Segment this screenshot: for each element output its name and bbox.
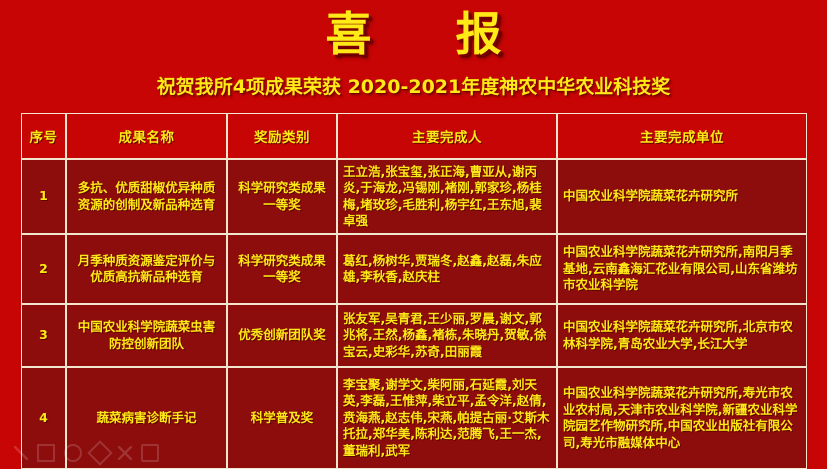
table-row: 1 多抗、优质甜椒优异种质资源的创制及新品种选育 科学研究类成果一等奖 王立浩,… xyxy=(21,159,807,234)
cell-index: 2 xyxy=(21,234,66,304)
table-header-row: 序号 成果名称 奖励类别 主要完成人 主要完成单位 xyxy=(21,113,807,159)
award-table-container: 序号 成果名称 奖励类别 主要完成人 主要完成单位 1 多抗、优质甜椒优异种质资… xyxy=(21,113,807,452)
cell-achievement: 月季种质资源鉴定评价与优质高抗新品种选育 xyxy=(66,234,227,304)
cell-contributors: 李宝聚,谢学文,柴阿丽,石延霞,刘天英,李磊,王惟萍,柴立平,孟令洋,赵倩,贲海… xyxy=(337,367,557,469)
page-subtitle: 祝贺我所4项成果荣获 2020-2021年度神农中华农业科技奖 xyxy=(0,74,827,100)
column-header-award-type: 奖励类别 xyxy=(227,113,337,159)
cell-units: 中国农业科学院蔬菜花卉研究所 xyxy=(557,159,807,234)
cell-achievement: 多抗、优质甜椒优异种质资源的创制及新品种选育 xyxy=(66,159,227,234)
column-header-units: 主要完成单位 xyxy=(557,113,807,159)
cell-index: 1 xyxy=(21,159,66,234)
column-header-index: 序号 xyxy=(21,113,66,159)
cell-achievement: 中国农业科学院蔬菜虫害防控创新团队 xyxy=(66,304,227,367)
table-row: 2 月季种质资源鉴定评价与优质高抗新品种选育 科学研究类成果一等奖 葛红,杨树华… xyxy=(21,234,807,304)
award-table: 序号 成果名称 奖励类别 主要完成人 主要完成单位 1 多抗、优质甜椒优异种质资… xyxy=(21,113,807,469)
cell-award-type: 科学普及奖 xyxy=(227,367,337,469)
page-title: 喜 报 xyxy=(0,4,827,64)
cell-contributors: 葛红,杨树华,贾瑞冬,赵鑫,赵磊,朱应雄,李秋香,赵庆柱 xyxy=(337,234,557,304)
banner: 喜 报 祝贺我所4项成果荣获 2020-2021年度神农中华农业科技奖 xyxy=(0,0,827,108)
cell-award-type: 科学研究类成果一等奖 xyxy=(227,159,337,234)
cell-contributors: 张友军,吴青君,王少丽,罗晨,谢文,郭兆将,王然,杨鑫,褚栋,朱晓丹,贺敏,徐宝… xyxy=(337,304,557,367)
cell-award-type: 科学研究类成果一等奖 xyxy=(227,234,337,304)
cell-index: 4 xyxy=(21,367,66,469)
cell-units: 中国农业科学院蔬菜花卉研究所,南阳月季基地,云南鑫海汇花业有限公司,山东省潍坊市… xyxy=(557,234,807,304)
cell-units: 中国农业科学院蔬菜花卉研究所,寿光市农业农村局,天津市农业科学院,新疆农业科学院… xyxy=(557,367,807,469)
cell-achievement: 蔬菜病害诊断手记 xyxy=(66,367,227,469)
cell-units: 中国农业科学院蔬菜花卉研究所,北京市农林科学院,青岛农业大学,长江大学 xyxy=(557,304,807,367)
column-header-achievement: 成果名称 xyxy=(66,113,227,159)
cell-contributors: 王立浩,张宝玺,张正海,曹亚从,谢丙炎,于海龙,冯锡刚,褚刚,郭家珍,杨桂梅,堵… xyxy=(337,159,557,234)
cell-index: 3 xyxy=(21,304,66,367)
table-row: 3 中国农业科学院蔬菜虫害防控创新团队 优秀创新团队奖 张友军,吴青君,王少丽,… xyxy=(21,304,807,367)
table-row: 4 蔬菜病害诊断手记 科学普及奖 李宝聚,谢学文,柴阿丽,石延霞,刘天英,李磊,… xyxy=(21,367,807,469)
column-header-contributors: 主要完成人 xyxy=(337,113,557,159)
cell-award-type: 优秀创新团队奖 xyxy=(227,304,337,367)
